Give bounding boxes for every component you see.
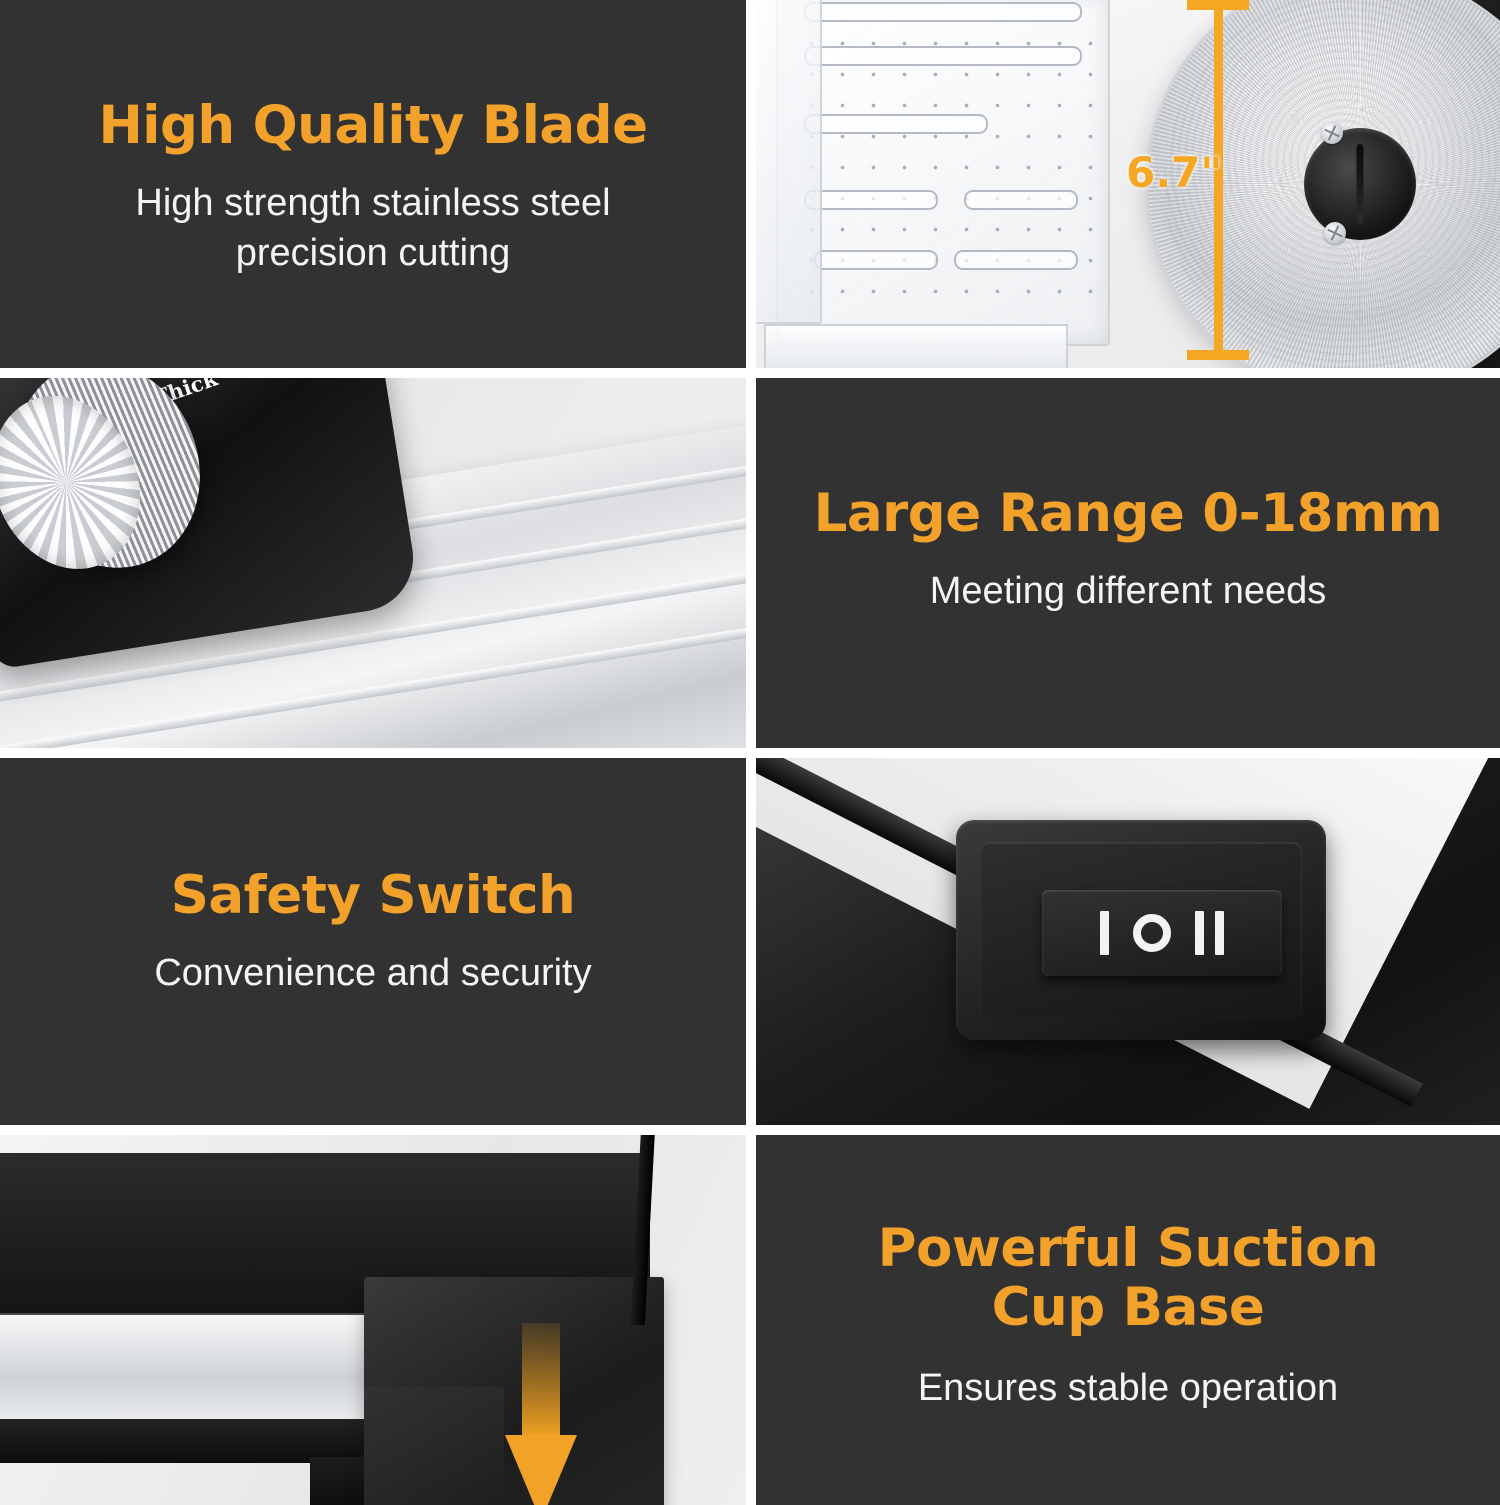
down-arrow-icon [506, 1323, 576, 1505]
panel-large-range: Large Range 0-18mm Meeting different nee… [756, 378, 1500, 748]
blade-screw-icon [1324, 222, 1346, 244]
panel-subline: Ensures stable operation [756, 1364, 1500, 1413]
power-hold-icon [1195, 911, 1224, 955]
knob-face [0, 378, 166, 592]
switch-recess [980, 842, 1302, 1018]
text-block: Safety Switch Convenience and security [0, 866, 746, 999]
thickness-knob[interactable] [0, 378, 231, 597]
dimension-cap-bottom [1187, 350, 1249, 360]
panel-suction-cup-base: Powerful Suction Cup Base Ensures stable… [756, 1135, 1500, 1505]
panel-high-quality-blade: High Quality Blade High strength stainle… [0, 0, 746, 368]
acrylic-side-plate [756, 0, 822, 324]
power-off-icon [1133, 914, 1171, 952]
panel-subline: High strength stainless steel precision … [113, 179, 633, 278]
switch-bezel [956, 820, 1326, 1040]
blade-screw-icon [1321, 122, 1343, 144]
base-tab [310, 1457, 364, 1505]
text-block: Large Range 0-18mm Meeting different nee… [756, 484, 1500, 617]
panel-headline: Powerful Suction Cup Base [818, 1219, 1438, 1338]
suction-cup-housing-lower [364, 1387, 504, 1505]
panel-headline: High Quality Blade [0, 96, 746, 155]
acrylic-base-tray [764, 324, 1068, 368]
photo-suction-cup [0, 1135, 746, 1505]
photo-thickness-knob: Thin Thick [0, 378, 746, 748]
blade-size-label: 6.7" [1126, 148, 1222, 197]
text-block: High Quality Blade High strength stainle… [0, 96, 746, 278]
panel-subline: Convenience and security [0, 949, 746, 998]
photo-safety-switch [756, 758, 1500, 1125]
photo-blade: 6.7" [756, 0, 1500, 368]
panel-headline: Safety Switch [0, 866, 746, 925]
acrylic-food-guard [776, 0, 1110, 346]
power-rocker-switch[interactable] [1042, 890, 1282, 976]
feature-grid: High Quality Blade High strength stainle… [0, 0, 1500, 1500]
text-block: Powerful Suction Cup Base Ensures stable… [756, 1219, 1500, 1413]
blade-hub [1304, 128, 1416, 240]
panel-headline: Large Range 0-18mm [756, 484, 1500, 543]
panel-safety-switch: Safety Switch Convenience and security [0, 758, 746, 1125]
power-on-icon [1100, 911, 1109, 955]
panel-subline: Meeting different needs [756, 567, 1500, 616]
